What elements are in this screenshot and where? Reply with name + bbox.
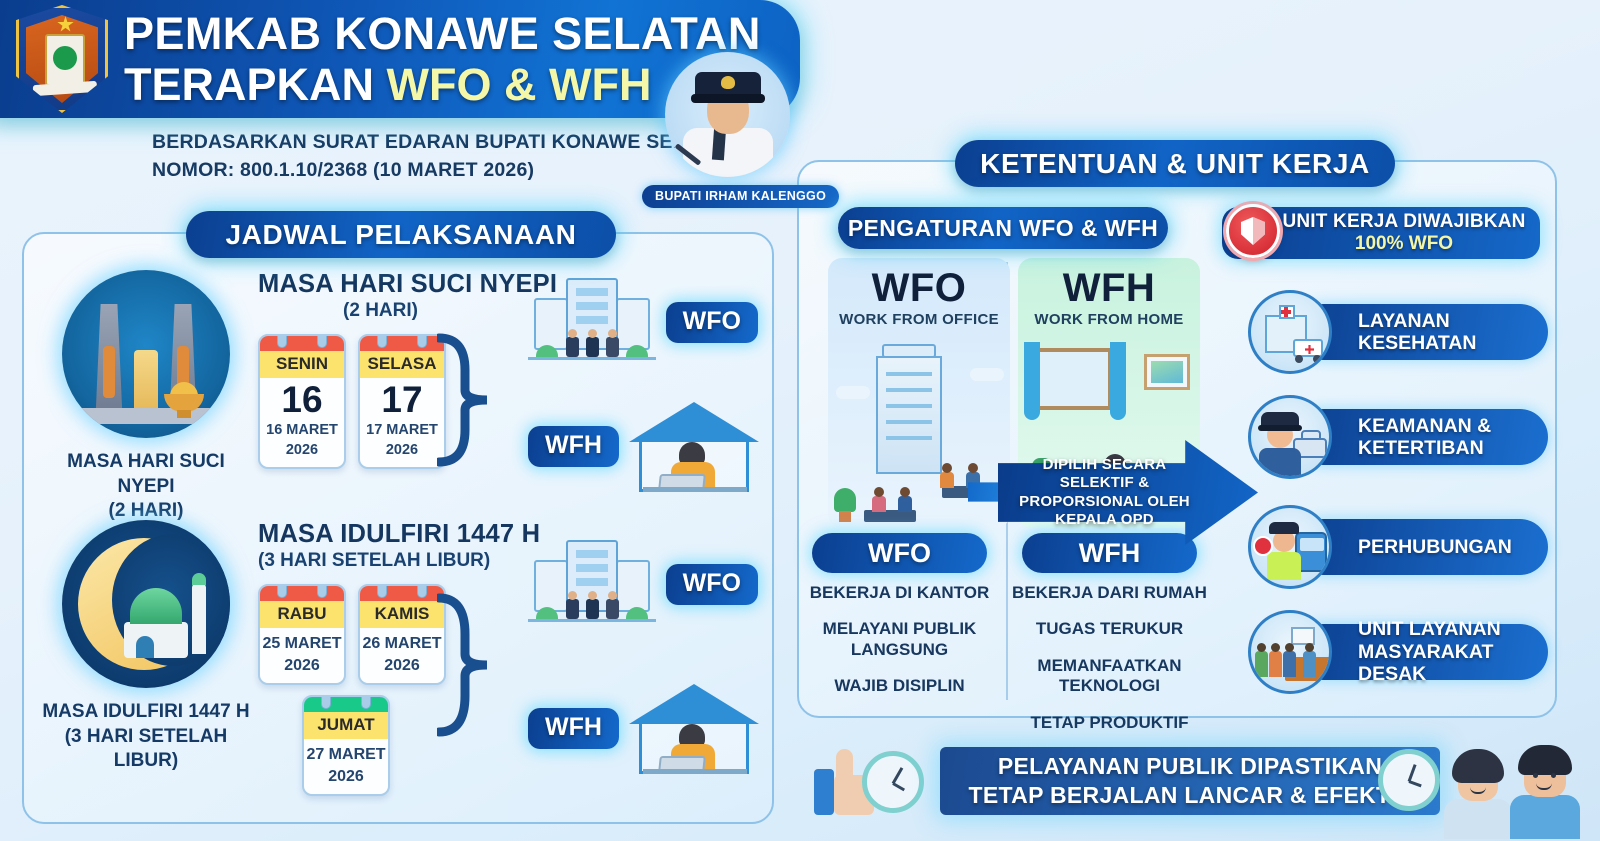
mandatory-wfo-line1: UNIT KERJA DIWAJIBKAN xyxy=(1282,211,1525,233)
selection-note-arrow: DIPILIH SECARA SELEKTIF & PROPORSIONAL O… xyxy=(998,440,1258,545)
service-desk-icon xyxy=(1248,610,1332,694)
arrangement-title: PENGATURAN WFO & WFH xyxy=(838,207,1168,249)
idulfitri-icon-label-l1: MASA IDULFIRI 1447 H xyxy=(40,700,252,725)
unit-label-l2: KETERTIBAN xyxy=(1358,437,1491,459)
unit-label: UNIT LAYANAN MASYARAKAT DESAK xyxy=(1358,618,1548,685)
home-laptop-icon xyxy=(629,398,758,494)
selection-note-text: DIPILIH SECARA SELEKTIF & PROPORSIONAL O… xyxy=(1012,456,1197,529)
unit-item-transport: PERHUBUNGAN xyxy=(1248,505,1548,589)
calendar-day: RABU xyxy=(260,601,344,628)
calendar-year: 2026 xyxy=(304,767,388,787)
calendar-date: 26 MARET xyxy=(360,634,444,654)
calendar-card: RABU 25 MARET 2026 xyxy=(258,584,346,685)
calendar-day: KAMIS xyxy=(360,601,444,628)
list-item: MELAYANI PUBLIK LANGSUNG xyxy=(802,619,997,660)
calendar-card: KAMIS 26 MARET 2026 xyxy=(358,584,446,685)
list-item: BEKERJA DI KANTOR xyxy=(802,583,997,603)
wfh-expansion: WORK FROM HOME xyxy=(1018,311,1200,328)
wfo-code: WFO xyxy=(828,266,1010,311)
output-badge-wfh: WFH xyxy=(528,426,619,467)
bottom-banner: PELAYANAN PUBLIK DIPASTIKAN TETAP BERJAL… xyxy=(800,733,1590,833)
calendar-year: 2026 xyxy=(360,656,444,676)
police-officer-icon xyxy=(1248,395,1332,479)
calendar-date: 25 MARET xyxy=(260,634,344,654)
wfh-feature-list: BEKERJA DARI RUMAH TUGAS TERUKUR MEMANFA… xyxy=(1012,583,1207,749)
unit-label: LAYANAN KESEHATAN xyxy=(1358,310,1476,355)
calendar-day: SELASA xyxy=(360,351,444,378)
public-servants-icon xyxy=(1440,749,1580,833)
idulfitri-brace xyxy=(437,590,493,740)
calendar-year: 2026 xyxy=(260,442,344,460)
unit-label-l1: UNIT LAYANAN xyxy=(1358,618,1548,640)
shield-icon xyxy=(1226,204,1280,258)
decree-line2: NOMOR: 800.1.10/2368 (10 MARET 2026) xyxy=(152,156,737,184)
provisions-panel-title: KETENTUAN & UNIT KERJA xyxy=(955,140,1395,187)
bupati-name-label: BUPATI IRHAM KALENGGO xyxy=(642,185,839,208)
header-title-line1: PEMKAB KONAWE SELATAN xyxy=(124,11,761,56)
bupati-portrait-icon xyxy=(665,52,790,177)
idulfitri-output-wfh: WFH xyxy=(528,680,758,776)
unit-item-security: KEAMANAN & KETERTIBAN xyxy=(1248,395,1548,479)
balinese-temple-icon xyxy=(62,270,230,438)
calendar-card: SELASA 17 17 MARET 2026 xyxy=(358,334,446,469)
idulfitri-icon-column: MASA IDULFIRI 1447 H (3 HARI SETELAH LIB… xyxy=(40,520,252,774)
calendar-year: 2026 xyxy=(360,442,444,460)
wfh-code: WFH xyxy=(1018,266,1200,311)
home-laptop-icon xyxy=(629,680,758,776)
clock-icon xyxy=(862,751,924,813)
bottom-banner-text: PELAYANAN PUBLIK DIPASTIKAN TETAP BERJAL… xyxy=(940,747,1440,815)
nyepi-subtitle: (2 HARI) xyxy=(258,300,503,322)
calendar-number: 17 xyxy=(360,380,444,420)
wfo-expansion: WORK FROM OFFICE xyxy=(828,311,1010,328)
clock-icon xyxy=(1378,749,1440,811)
unit-label: KEAMANAN & KETERTIBAN xyxy=(1358,415,1491,460)
calendar-day: SENIN xyxy=(260,351,344,378)
idulfitri-calendar-row-2: JUMAT 27 MARET 2026 xyxy=(302,695,528,796)
calendar-day: JUMAT xyxy=(304,712,388,739)
unit-item-health: LAYANAN KESEHATAN xyxy=(1248,290,1548,374)
list-item: WAJIB DISIPLIN xyxy=(802,676,997,696)
calendar-number: 16 xyxy=(260,380,344,420)
decree-line1: BERDASARKAN SURAT EDARAN BUPATI KONAWE S… xyxy=(152,128,737,156)
office-building-icon xyxy=(528,276,656,368)
bottom-banner-line2: TETAP BERJALAN LANCAR & EFEKTIF xyxy=(969,781,1412,810)
list-item: MEMANFAATKAN TEKNOLOGI xyxy=(1012,656,1207,697)
idulfitri-icon-label-l2: (3 HARI SETELAH LIBUR) xyxy=(40,725,252,774)
list-item: TETAP PRODUKTIF xyxy=(1012,713,1207,733)
hospital-ambulance-icon xyxy=(1248,290,1332,374)
calendar-date: 17 MARET xyxy=(360,422,444,440)
idulfitri-title: MASA IDULFIRI 1447 H xyxy=(258,520,528,549)
regency-crest-icon xyxy=(16,5,108,113)
calendar-card: SENIN 16 16 MARET 2026 xyxy=(258,334,346,469)
unit-label-l1: KEAMANAN & xyxy=(1358,415,1491,437)
idulfitri-icon-label: MASA IDULFIRI 1447 H (3 HARI SETELAH LIB… xyxy=(40,700,252,774)
idulfitri-output-wfo: WFO xyxy=(528,538,758,630)
calendar-year: 2026 xyxy=(260,656,344,676)
unit-label-l1: PERHUBUNGAN xyxy=(1358,536,1512,558)
nyepi-title: MASA HARI SUCI NYEPI xyxy=(258,270,528,299)
traffic-bus-icon xyxy=(1248,505,1332,589)
nyepi-icon-column: MASA HARI SUCI NYEPI (2 HARI) xyxy=(40,270,252,524)
output-badge-wfo: WFO xyxy=(666,564,758,605)
nyepi-icon-label: MASA HARI SUCI NYEPI (2 HARI) xyxy=(40,450,252,524)
crescent-mosque-icon xyxy=(62,520,230,688)
decree-note: BERDASARKAN SURAT EDARAN BUPATI KONAWE S… xyxy=(152,128,737,185)
list-item: TUGAS TERUKUR xyxy=(1012,619,1207,639)
header-title-accent: WFO & WFH xyxy=(387,59,652,110)
mandatory-wfo-line2: 100% WFO xyxy=(1355,233,1453,255)
nyepi-icon-label-l1: MASA HARI SUCI NYEPI xyxy=(40,450,252,499)
idulfitri-subtitle: (3 HARI SETELAH LIBUR) xyxy=(258,550,528,572)
unit-label-l2: KESEHATAN xyxy=(1358,332,1476,354)
nyepi-output-wfh: WFH xyxy=(528,398,758,494)
schedule-panel-title: JADWAL PELAKSANAAN xyxy=(186,211,616,258)
calendar-card: JUMAT 27 MARET 2026 xyxy=(302,695,390,796)
output-badge-wfo: WFO xyxy=(666,302,758,343)
unit-label-l2: MASYARAKAT DESAK xyxy=(1358,641,1548,686)
infographic-root: PEMKAB KONAWE SELATAN TERAPKAN WFO & WFH… xyxy=(0,0,1600,841)
output-badge-wfh: WFH xyxy=(528,708,619,749)
list-item: BEKERJA DARI RUMAH xyxy=(1012,583,1207,603)
bottom-banner-line1: PELAYANAN PUBLIK DIPASTIKAN xyxy=(998,752,1382,781)
unit-label-l1: LAYANAN xyxy=(1358,310,1476,332)
header-title-prefix: TERAPKAN xyxy=(124,59,387,110)
bupati-portrait-group: BUPATI IRHAM KALENGGO xyxy=(655,52,805,217)
wfo-list-badge: WFO xyxy=(812,533,987,573)
nyepi-brace xyxy=(437,330,493,470)
unit-item-public-service: UNIT LAYANAN MASYARAKAT DESAK xyxy=(1248,610,1548,694)
unit-label: PERHUBUNGAN xyxy=(1358,536,1512,558)
office-building-icon xyxy=(528,538,656,630)
nyepi-output-wfo: WFO xyxy=(528,276,758,368)
calendar-date: 27 MARET xyxy=(304,745,388,765)
calendar-date: 16 MARET xyxy=(260,422,344,440)
wfo-feature-list: BEKERJA DI KANTOR MELAYANI PUBLIK LANGSU… xyxy=(802,583,997,713)
